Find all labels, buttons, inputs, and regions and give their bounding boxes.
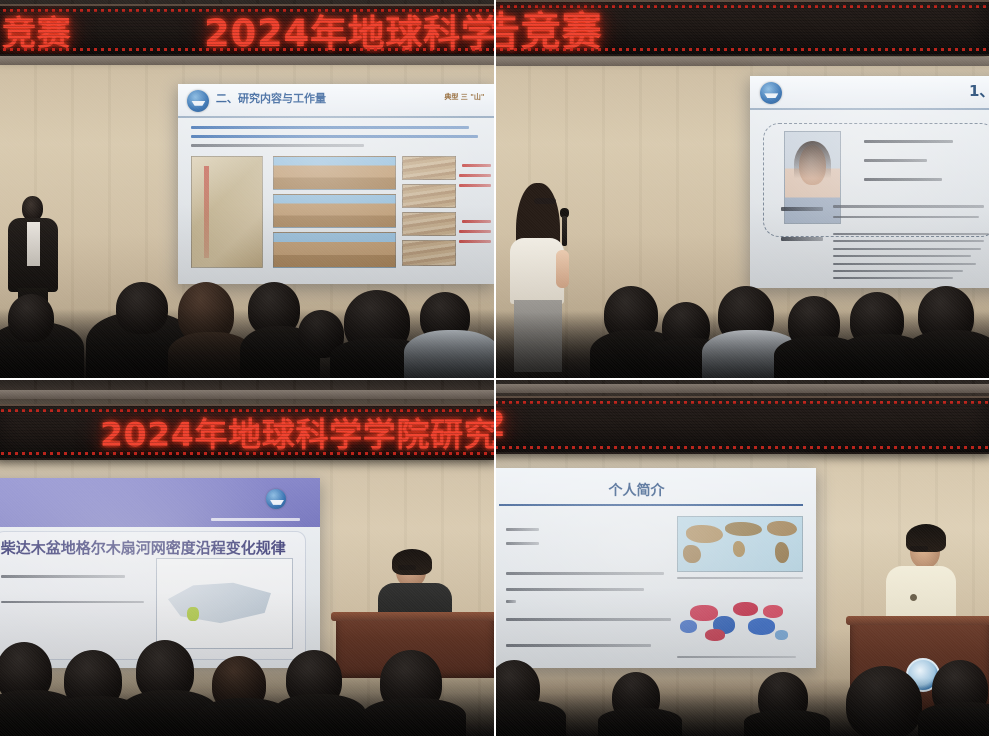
authors-line xyxy=(1,575,125,578)
profile-ethnicity-line xyxy=(864,159,926,162)
slide-figure-1 xyxy=(273,156,396,190)
slide-annotation-2-line-1 xyxy=(462,220,490,223)
presenter-glasses-icon xyxy=(534,198,556,204)
led-mount-rail xyxy=(494,57,989,66)
university-logo-icon xyxy=(266,489,286,509)
profile-hometown-line xyxy=(864,178,942,181)
quadrant-top-right: 告竞赛 1、 xyxy=(494,0,989,378)
presenter-shirt xyxy=(27,222,40,266)
slide-body-line-1 xyxy=(506,528,539,531)
collage-seam-horizontal xyxy=(0,378,989,380)
china-map-figure xyxy=(677,592,802,652)
awards-value-line-3 xyxy=(833,248,981,250)
quadrant-bottom-right: 2 个人简介 xyxy=(494,378,989,736)
slide-body-line-4 xyxy=(506,588,645,591)
led-mount-rail xyxy=(0,56,494,65)
education-value-line-1 xyxy=(833,205,984,208)
slide-header: 二、 研究内容与工作量 典型 三 "山" xyxy=(178,84,494,118)
awards-value-line-6 xyxy=(833,270,963,272)
led-mount-rail xyxy=(494,384,989,393)
led-banner-text-left-fragment: 竞赛 xyxy=(2,6,71,55)
university-logo-icon xyxy=(187,90,209,112)
led-banner-text: 2024年地球科学学院研究生论文报告竞赛 xyxy=(100,408,494,456)
slide-header: 1、 xyxy=(750,76,989,110)
slide-figure-6 xyxy=(402,212,456,236)
profile-name-line xyxy=(864,140,952,143)
world-map-figure xyxy=(677,516,802,572)
slide-body-line-3 xyxy=(506,572,664,575)
presenter-hair xyxy=(392,549,432,575)
slide-title: 个人简介 xyxy=(608,480,664,500)
slide-figure-2 xyxy=(273,194,396,228)
slide-body-line-1 xyxy=(191,126,469,129)
floor-shadow xyxy=(0,672,494,736)
led-banner-bottom-left: 2024年地球科学学院研究生论文报告竞赛 xyxy=(0,404,494,460)
slide-annotation-1-line-3 xyxy=(459,184,491,187)
slide-section-label: 二、 xyxy=(216,90,238,106)
projection-screen-top-left: 二、 研究内容与工作量 典型 三 "山" xyxy=(178,84,494,284)
led-banner-text: 告竞赛 xyxy=(494,0,602,56)
slide-annotation-2-line-2 xyxy=(459,230,491,233)
quadrant-bottom-left: 2024年地球科学学院研究生论文报告竞赛 柴达木盆地格尔木扇河网密度沿程变化规律 xyxy=(0,378,494,736)
awards-value-line-4 xyxy=(833,255,971,257)
led-banner-text: 2 xyxy=(494,405,985,445)
slide-annotation-2-line-3 xyxy=(459,240,491,243)
slide-title: 研究内容与工作量 xyxy=(238,90,326,106)
slide-figure-4 xyxy=(402,156,456,180)
projection-screen-bottom-right: 个人简介 xyxy=(494,468,816,668)
slide-body-line-5 xyxy=(506,600,516,603)
led-banner-top-left: 二、 竞赛 2024年地球科学学院研究生论文报 xyxy=(0,4,494,56)
collage-seam-vertical xyxy=(494,0,496,736)
university-name-line xyxy=(211,518,299,521)
awards-value-line-5 xyxy=(833,263,976,265)
led-banner-bottom-right: 2 xyxy=(494,396,989,454)
slide-body-line-2 xyxy=(506,542,539,545)
slide-figure-3 xyxy=(273,232,396,268)
slide-annotation-1-line-1 xyxy=(462,164,490,167)
slide-header-right-note: 典型 三 "山" xyxy=(444,92,484,102)
presenter-glasses-icon xyxy=(910,546,928,551)
world-map-caption xyxy=(677,577,802,579)
podium-top-edge xyxy=(846,616,989,625)
slide-annotation-1-line-2 xyxy=(459,174,491,177)
conference-photo-collage: 二、 竞赛 2024年地球科学学院研究生论文报 二、 研究内容与工作量 典型 三… xyxy=(0,0,989,736)
floor-shadow xyxy=(0,308,494,378)
awards-label-line xyxy=(781,237,823,241)
podium-top-edge xyxy=(331,612,494,621)
floor-shadow xyxy=(494,312,989,378)
university-logo-icon xyxy=(760,82,782,104)
slide-figure-7 xyxy=(402,240,456,266)
slide-header: 个人简介 xyxy=(499,478,803,506)
floor-shadow xyxy=(494,678,989,736)
quadrant-top-left: 二、 竞赛 2024年地球科学学院研究生论文报 二、 研究内容与工作量 典型 三… xyxy=(0,0,494,378)
led-mount-rail xyxy=(0,390,494,399)
slide-body-line-3 xyxy=(191,144,365,147)
slide-body-line-2 xyxy=(191,135,479,138)
led-banner-text-main: 2024年地球科学学院研究生论文报 xyxy=(204,4,494,56)
slide-header-band xyxy=(0,478,320,527)
slide-body-line-6 xyxy=(506,618,671,621)
slide-figure-5 xyxy=(402,184,456,208)
presenter-glasses-icon xyxy=(398,565,416,570)
led-banner-top-right: 告竞赛 xyxy=(494,0,989,56)
slide-section-label: 1、 xyxy=(969,80,989,101)
affiliation-line xyxy=(1,601,144,603)
education-label-line xyxy=(781,207,823,211)
slide-title: 柴达木盆地格尔木扇河网密度沿程变化规律 xyxy=(1,537,286,558)
microphone-handle xyxy=(562,216,567,246)
slide-figure-map xyxy=(191,156,264,268)
sweater-logo-icon xyxy=(910,594,917,601)
awards-value-line-2 xyxy=(833,240,984,242)
projection-screen-top-right: 1、 xyxy=(750,76,989,288)
awards-value-line-1 xyxy=(833,233,989,235)
